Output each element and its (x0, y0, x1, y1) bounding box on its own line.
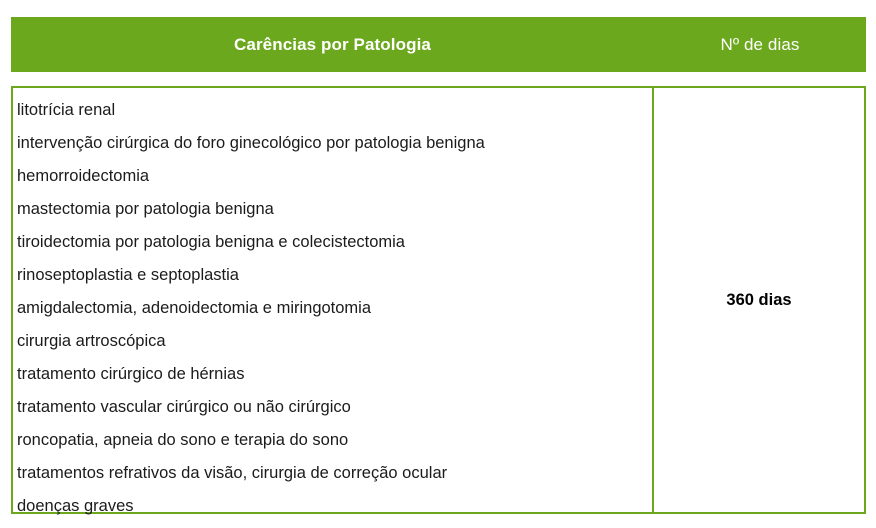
table-row: tiroidectomia por patologia benigna e co… (17, 226, 652, 259)
table-header-row: Carências por Patologia Nº de dias (11, 17, 866, 72)
table-row: litotrícia renal (17, 94, 652, 127)
table-body: litotrícia renal intervenção cirúrgica d… (11, 86, 866, 514)
table-row: rinoseptoplastia e septoplastia (17, 259, 652, 292)
table-row: amigdalectomia, adenoidectomia e miringo… (17, 292, 652, 325)
days-cell: 360 dias (654, 88, 864, 512)
table-row: tratamento cirúrgico de hérnias (17, 358, 652, 391)
table-row: hemorroidectomia (17, 160, 652, 193)
table-row: cirurgia artroscópica (17, 325, 652, 358)
table-row: tratamento vascular cirúrgico ou não cir… (17, 391, 652, 424)
table-row: roncopatia, apneia do sono e terapia do … (17, 424, 652, 457)
column-header-pathology: Carências por Patologia (11, 17, 654, 72)
pathology-list-cell: litotrícia renal intervenção cirúrgica d… (13, 88, 654, 512)
days-value: 360 dias (726, 291, 791, 310)
table-row: doenças graves (17, 490, 652, 523)
table-row: tratamentos refrativos da visão, cirurgi… (17, 457, 652, 490)
waiting-periods-table: Carências por Patologia Nº de dias litot… (11, 17, 866, 514)
table-row: mastectomia por patologia benigna (17, 193, 652, 226)
table-row: intervenção cirúrgica do foro ginecológi… (17, 127, 652, 160)
column-header-days: Nº de dias (654, 17, 866, 72)
